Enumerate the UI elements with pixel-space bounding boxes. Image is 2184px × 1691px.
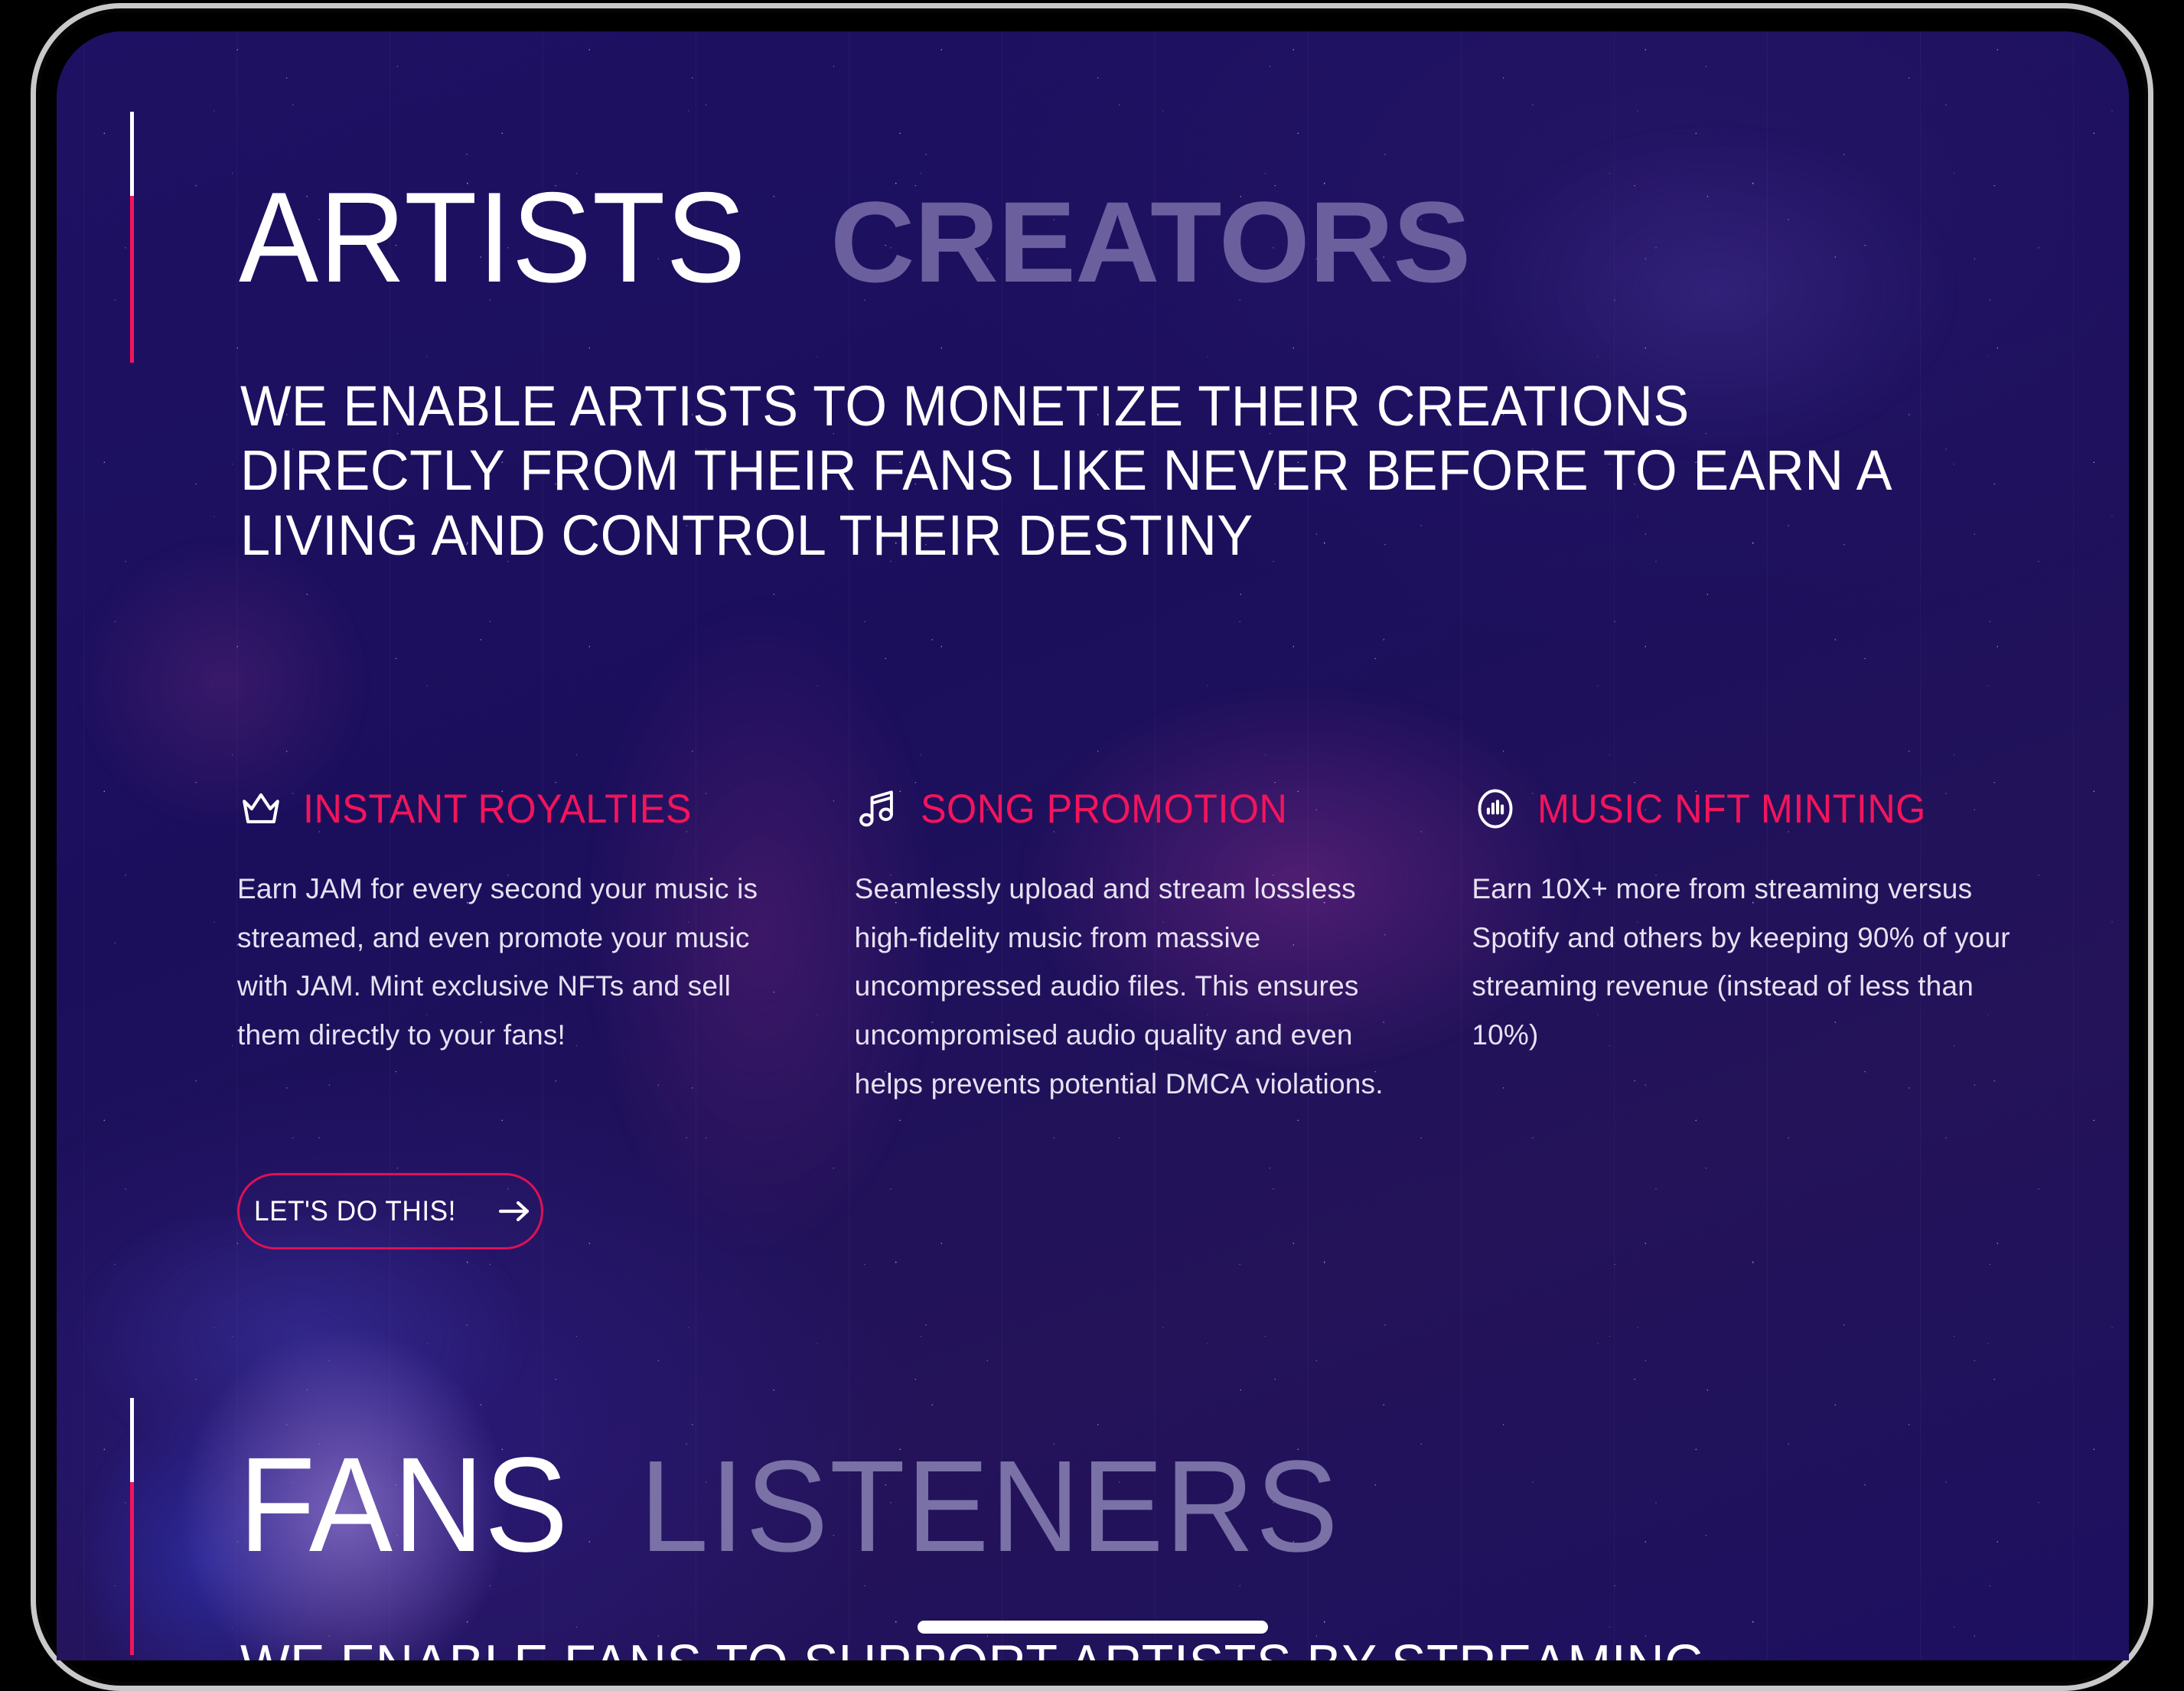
feature-title: INSTANT ROYALTIES (303, 789, 692, 829)
feature-body: Earn JAM for every second your music is … (237, 865, 801, 1060)
lets-do-this-button[interactable]: LET'S DO THIS! (237, 1173, 543, 1250)
feature-header: INSTANT ROYALTIES (237, 785, 801, 832)
artists-heading-ghost: CREATORS (830, 184, 1470, 299)
fans-heading-main: FANS (239, 1438, 569, 1572)
feature-header: SONG PROMOTION (855, 785, 1419, 832)
tablet-screen: ARTISTS CREATORS WE ENABLE ARTISTS TO MO… (57, 31, 2129, 1660)
artists-section-heading: ARTISTS CREATORS (239, 173, 1458, 301)
fans-section-heading: FANS LISTENERS (239, 1438, 1376, 1572)
feature-body: Seamlessly upload and stream lossless hi… (855, 865, 1419, 1108)
artists-intro-paragraph: WE ENABLE ARTISTS TO MONETIZE THEIR CREA… (240, 374, 1935, 568)
feature-instant-royalties: INSTANT ROYALTIES Earn JAM for every sec… (237, 785, 855, 1108)
accent-bar-white-segment (130, 112, 134, 196)
accent-bar-white-segment (130, 1398, 134, 1482)
feature-song-promotion: SONG PROMOTION Seamlessly upload and str… (855, 785, 1472, 1108)
page-content: ARTISTS CREATORS WE ENABLE ARTISTS TO MO… (57, 31, 2129, 1660)
feature-music-nft-minting: MUSIC NFT MINTING Earn 10X+ more from st… (1472, 785, 2089, 1108)
crown-icon (237, 785, 285, 832)
arrow-right-icon (498, 1200, 532, 1223)
feature-columns: INSTANT ROYALTIES Earn JAM for every sec… (237, 785, 2089, 1108)
feature-title: SONG PROMOTION (921, 789, 1287, 829)
equalizer-circle-icon (1472, 785, 1519, 832)
accent-bar-pink-segment (130, 1482, 134, 1655)
artists-heading-main: ARTISTS (239, 173, 746, 301)
cta-button-label: LET'S DO THIS! (254, 1195, 456, 1227)
home-indicator-bar[interactable] (918, 1621, 1268, 1634)
accent-bar-pink-segment (130, 196, 134, 363)
fans-intro-paragraph-clipped: WE ENABLE FANS TO SUPPORT ARTISTS BY STR… (240, 1634, 1941, 1660)
fans-heading-ghost: LISTENERS (640, 1442, 1340, 1572)
music-note-icon (855, 785, 902, 832)
artists-accent-bar (130, 112, 134, 363)
feature-title: MUSIC NFT MINTING (1537, 789, 1926, 829)
fans-accent-bar (130, 1398, 134, 1655)
feature-body: Earn 10X+ more from streaming versus Spo… (1472, 865, 2036, 1060)
feature-header: MUSIC NFT MINTING (1472, 785, 2036, 832)
tablet-device-frame: ARTISTS CREATORS WE ENABLE ARTISTS TO MO… (0, 0, 2184, 1660)
